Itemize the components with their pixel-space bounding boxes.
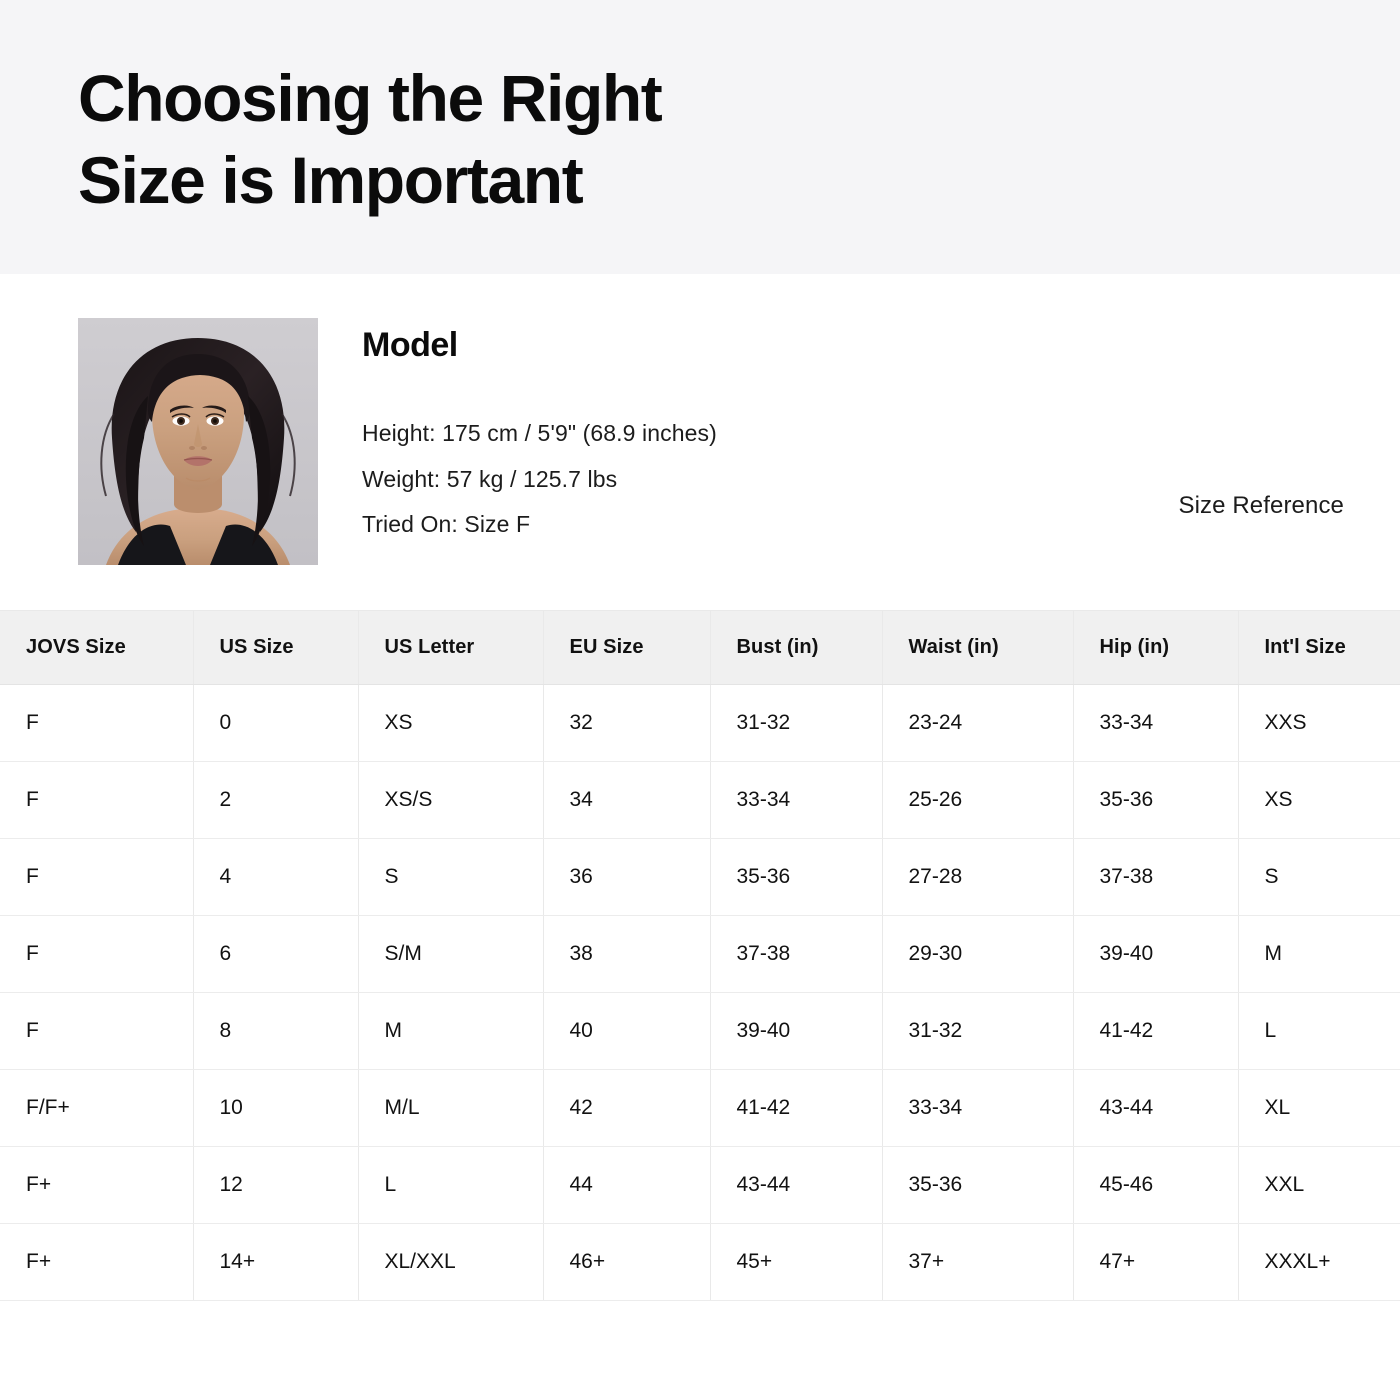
size-chart-table: JOVS SizeUS SizeUS LetterEU SizeBust (in… [0, 610, 1400, 1301]
table-cell: 38 [543, 916, 710, 993]
page-title-line-2: Size is Important [78, 140, 798, 222]
model-weight: Weight: 57 kg / 125.7 lbs [362, 457, 717, 503]
table-cell: 43-44 [710, 1147, 882, 1224]
table-row: F6S/M3837-3829-3039-40M [0, 916, 1400, 993]
table-cell: XXXL+ [1238, 1224, 1400, 1301]
table-cell: M [358, 993, 543, 1070]
table-cell: 46+ [543, 1224, 710, 1301]
table-cell: 6 [193, 916, 358, 993]
table-row: F+12L4443-4435-3645-46XXL [0, 1147, 1400, 1224]
table-row: F2XS/S3433-3425-2635-36XS [0, 762, 1400, 839]
table-cell: M/L [358, 1070, 543, 1147]
table-cell: 36 [543, 839, 710, 916]
table-cell: S/M [358, 916, 543, 993]
page-title: Choosing the Right Size is Important [78, 58, 798, 222]
table-cell: L [1238, 993, 1400, 1070]
table-cell: 43-44 [1073, 1070, 1238, 1147]
table-column-header: Waist (in) [882, 611, 1073, 685]
table-cell: 14+ [193, 1224, 358, 1301]
table-cell: F+ [0, 1224, 193, 1301]
model-section: Model Height: 175 cm / 5'9" (68.9 inches… [0, 274, 1400, 610]
table-cell: 33-34 [710, 762, 882, 839]
table-column-header: Hip (in) [1073, 611, 1238, 685]
table-cell: F [0, 685, 193, 762]
table-cell: 25-26 [882, 762, 1073, 839]
table-cell: 41-42 [710, 1070, 882, 1147]
table-cell: 33-34 [882, 1070, 1073, 1147]
table-cell: F [0, 762, 193, 839]
table-cell: 4 [193, 839, 358, 916]
table-cell: 42 [543, 1070, 710, 1147]
table-column-header: US Size [193, 611, 358, 685]
table-cell: 27-28 [882, 839, 1073, 916]
table-cell: F [0, 916, 193, 993]
table-cell: 41-42 [1073, 993, 1238, 1070]
table-cell: 12 [193, 1147, 358, 1224]
table-column-header: Bust (in) [710, 611, 882, 685]
table-cell: XS [1238, 762, 1400, 839]
table-header: JOVS SizeUS SizeUS LetterEU SizeBust (in… [0, 611, 1400, 685]
table-cell: 37+ [882, 1224, 1073, 1301]
table-cell: 39-40 [1073, 916, 1238, 993]
table-cell: F [0, 993, 193, 1070]
table-cell: 34 [543, 762, 710, 839]
model-heading: Model [362, 326, 717, 365]
table-cell: XXL [1238, 1147, 1400, 1224]
table-cell: 33-34 [1073, 685, 1238, 762]
table-cell: F/F+ [0, 1070, 193, 1147]
table-cell: 2 [193, 762, 358, 839]
model-portrait-image [78, 318, 318, 565]
table-cell: 32 [543, 685, 710, 762]
table-cell: F+ [0, 1147, 193, 1224]
table-cell: 44 [543, 1147, 710, 1224]
model-height: Height: 175 cm / 5'9" (68.9 inches) [362, 411, 717, 457]
table-cell: 39-40 [710, 993, 882, 1070]
table-cell: 37-38 [710, 916, 882, 993]
table-cell: F [0, 839, 193, 916]
table-cell: 45+ [710, 1224, 882, 1301]
size-guide-page: Choosing the Right Size is Important [0, 0, 1400, 1400]
model-row: Model Height: 175 cm / 5'9" (68.9 inches… [78, 318, 1400, 565]
table-cell: XS [358, 685, 543, 762]
table-column-header: EU Size [543, 611, 710, 685]
table-cell: 29-30 [882, 916, 1073, 993]
table-cell: L [358, 1147, 543, 1224]
table-row: F/F+10M/L4241-4233-3443-44XL [0, 1070, 1400, 1147]
size-reference-label: Size Reference [1179, 492, 1345, 520]
table-cell: XXS [1238, 685, 1400, 762]
page-title-line-1: Choosing the Right [78, 58, 798, 140]
table-cell: 35-36 [710, 839, 882, 916]
table-header-row: JOVS SizeUS SizeUS LetterEU SizeBust (in… [0, 611, 1400, 685]
table-cell: 35-36 [1073, 762, 1238, 839]
hero-banner: Choosing the Right Size is Important [0, 0, 1400, 274]
table-column-header: US Letter [358, 611, 543, 685]
table-cell: 0 [193, 685, 358, 762]
table-cell: 40 [543, 993, 710, 1070]
table-cell: 45-46 [1073, 1147, 1238, 1224]
table-column-header: JOVS Size [0, 611, 193, 685]
model-tried-on-size: Tried On: Size F [362, 502, 717, 548]
model-info: Model Height: 175 cm / 5'9" (68.9 inches… [362, 318, 717, 548]
table-row: F+14+XL/XXL46+45+37+47+XXXL+ [0, 1224, 1400, 1301]
table-cell: XL/XXL [358, 1224, 543, 1301]
table-cell: S [1238, 839, 1400, 916]
table-cell: M [1238, 916, 1400, 993]
table-cell: XS/S [358, 762, 543, 839]
table-cell: S [358, 839, 543, 916]
table-cell: 23-24 [882, 685, 1073, 762]
table-row: F0XS3231-3223-2433-34XXS [0, 685, 1400, 762]
table-column-header: Int'l Size [1238, 611, 1400, 685]
table-cell: 47+ [1073, 1224, 1238, 1301]
table-body: F0XS3231-3223-2433-34XXSF2XS/S3433-3425-… [0, 685, 1400, 1301]
table-cell: XL [1238, 1070, 1400, 1147]
model-photo [78, 318, 318, 565]
table-cell: 31-32 [882, 993, 1073, 1070]
table-cell: 10 [193, 1070, 358, 1147]
table-cell: 35-36 [882, 1147, 1073, 1224]
table-cell: 8 [193, 993, 358, 1070]
table-cell: 37-38 [1073, 839, 1238, 916]
table-row: F8M4039-4031-3241-42L [0, 993, 1400, 1070]
table-cell: 31-32 [710, 685, 882, 762]
table-row: F4S3635-3627-2837-38S [0, 839, 1400, 916]
size-table-wrapper: JOVS SizeUS SizeUS LetterEU SizeBust (in… [0, 610, 1400, 1301]
